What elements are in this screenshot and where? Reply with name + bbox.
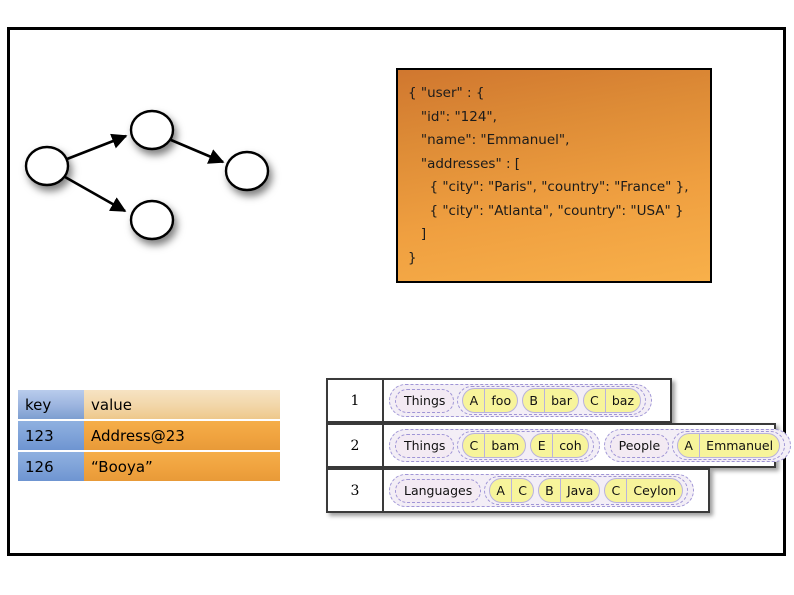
graph-diagram xyxy=(10,95,300,260)
cell-value: Java xyxy=(561,479,599,502)
cell-pill[interactable]: A C xyxy=(489,478,534,503)
graph-node-4[interactable] xyxy=(131,201,173,239)
json-line: "name": "Emmanuel", xyxy=(408,129,710,153)
json-line: { "user" : { xyxy=(408,82,710,106)
cell-value: baz xyxy=(606,389,640,412)
cell-value: Emmanuel xyxy=(700,434,779,457)
cell-pill[interactable]: B Java xyxy=(538,478,600,503)
graph-node-3[interactable] xyxy=(226,152,268,190)
json-line: ] xyxy=(408,223,710,247)
row-index: 2 xyxy=(328,425,384,466)
cell-pill[interactable]: C bam xyxy=(462,433,526,458)
cell-qualifier: E xyxy=(531,434,553,457)
cell-qualifier: C xyxy=(463,434,485,457)
key-value-table: key value 123 Address@23 126 “Booya” xyxy=(18,390,280,481)
cell-value: C xyxy=(512,479,533,502)
cell-value: Ceylon xyxy=(627,479,682,502)
json-line: { "city": "Paris", "country": "France" }… xyxy=(408,176,710,200)
json-line: } xyxy=(408,247,710,271)
graph-node-2[interactable] xyxy=(131,111,173,149)
column-header-key: key xyxy=(18,390,84,420)
cell-pill[interactable]: E coh xyxy=(530,433,588,458)
cell-pill[interactable]: B bar xyxy=(522,388,579,413)
cell-pill-set: A C B Java C Ceylon xyxy=(484,476,688,505)
table-header-row: key value xyxy=(18,390,280,420)
cell-value: foo xyxy=(485,389,517,412)
row-index: 1 xyxy=(328,380,384,421)
cell-value: Address@23 xyxy=(84,420,280,451)
cell-pill-set: C bam E coh xyxy=(457,431,593,460)
cell-qualifier: A xyxy=(678,434,700,457)
graph-svg xyxy=(10,95,300,260)
cell-key: 123 xyxy=(18,420,84,451)
json-line: { "city": "Atlanta", "country": "USA" } xyxy=(408,200,710,224)
cell-pill[interactable]: C baz xyxy=(583,388,641,413)
column-family-group[interactable]: People A Emmanuel xyxy=(604,429,791,462)
cell-qualifier: A xyxy=(490,479,512,502)
cell-qualifier: B xyxy=(539,479,561,502)
cell-value: “Booya” xyxy=(84,451,280,481)
column-family-group[interactable]: Things C bam E coh xyxy=(389,429,600,462)
cell-qualifier: C xyxy=(584,389,606,412)
cell-qualifier: A xyxy=(463,389,485,412)
cell-pill[interactable]: A foo xyxy=(462,388,518,413)
cell-pill[interactable]: C Ceylon xyxy=(604,478,683,503)
column-family-group[interactable]: Languages A C B Java C Ceylon xyxy=(389,474,694,507)
row-body: Things A foo B bar C baz xyxy=(384,380,670,421)
cell-value: bar xyxy=(545,389,578,412)
cell-value: coh xyxy=(553,434,587,457)
table-row[interactable]: 123 Address@23 xyxy=(18,420,280,451)
column-family-label: Things xyxy=(395,389,454,413)
edge-n1-n4 xyxy=(65,177,125,211)
cell-pill-set: A foo B bar C baz xyxy=(457,386,646,415)
table-row[interactable]: 1 Things A foo B bar C baz xyxy=(326,378,672,423)
cell-key: 126 xyxy=(18,451,84,481)
column-family-label: People xyxy=(610,434,670,458)
table-row[interactable]: 3 Languages A C B Java C Ceylon xyxy=(326,468,710,513)
row-body: Things C bam E coh People A xyxy=(384,425,791,466)
graph-node-1[interactable] xyxy=(26,147,68,185)
cell-pill-set: A Emmanuel xyxy=(672,431,785,460)
row-body: Languages A C B Java C Ceylon xyxy=(384,470,708,511)
json-line: "id": "124", xyxy=(408,106,710,130)
edge-n1-n2 xyxy=(67,136,126,159)
cell-pill[interactable]: A Emmanuel xyxy=(677,433,780,458)
row-index: 3 xyxy=(328,470,384,511)
graph-nodes xyxy=(26,111,268,239)
json-document-panel: { "user" : { "id": "124", "name": "Emman… xyxy=(396,68,712,283)
json-line: "addresses" : [ xyxy=(408,153,710,177)
column-header-value: value xyxy=(84,390,280,420)
table-row[interactable]: 126 “Booya” xyxy=(18,451,280,481)
cell-value: bam xyxy=(485,434,525,457)
cell-qualifier: C xyxy=(605,479,627,502)
edge-n2-n3 xyxy=(171,140,223,162)
column-family-group[interactable]: Things A foo B bar C baz xyxy=(389,384,652,417)
column-family-label: Languages xyxy=(395,479,481,503)
cell-qualifier: B xyxy=(523,389,545,412)
table-row[interactable]: 2 Things C bam E coh People xyxy=(326,423,776,468)
column-family-label: Things xyxy=(395,434,454,458)
